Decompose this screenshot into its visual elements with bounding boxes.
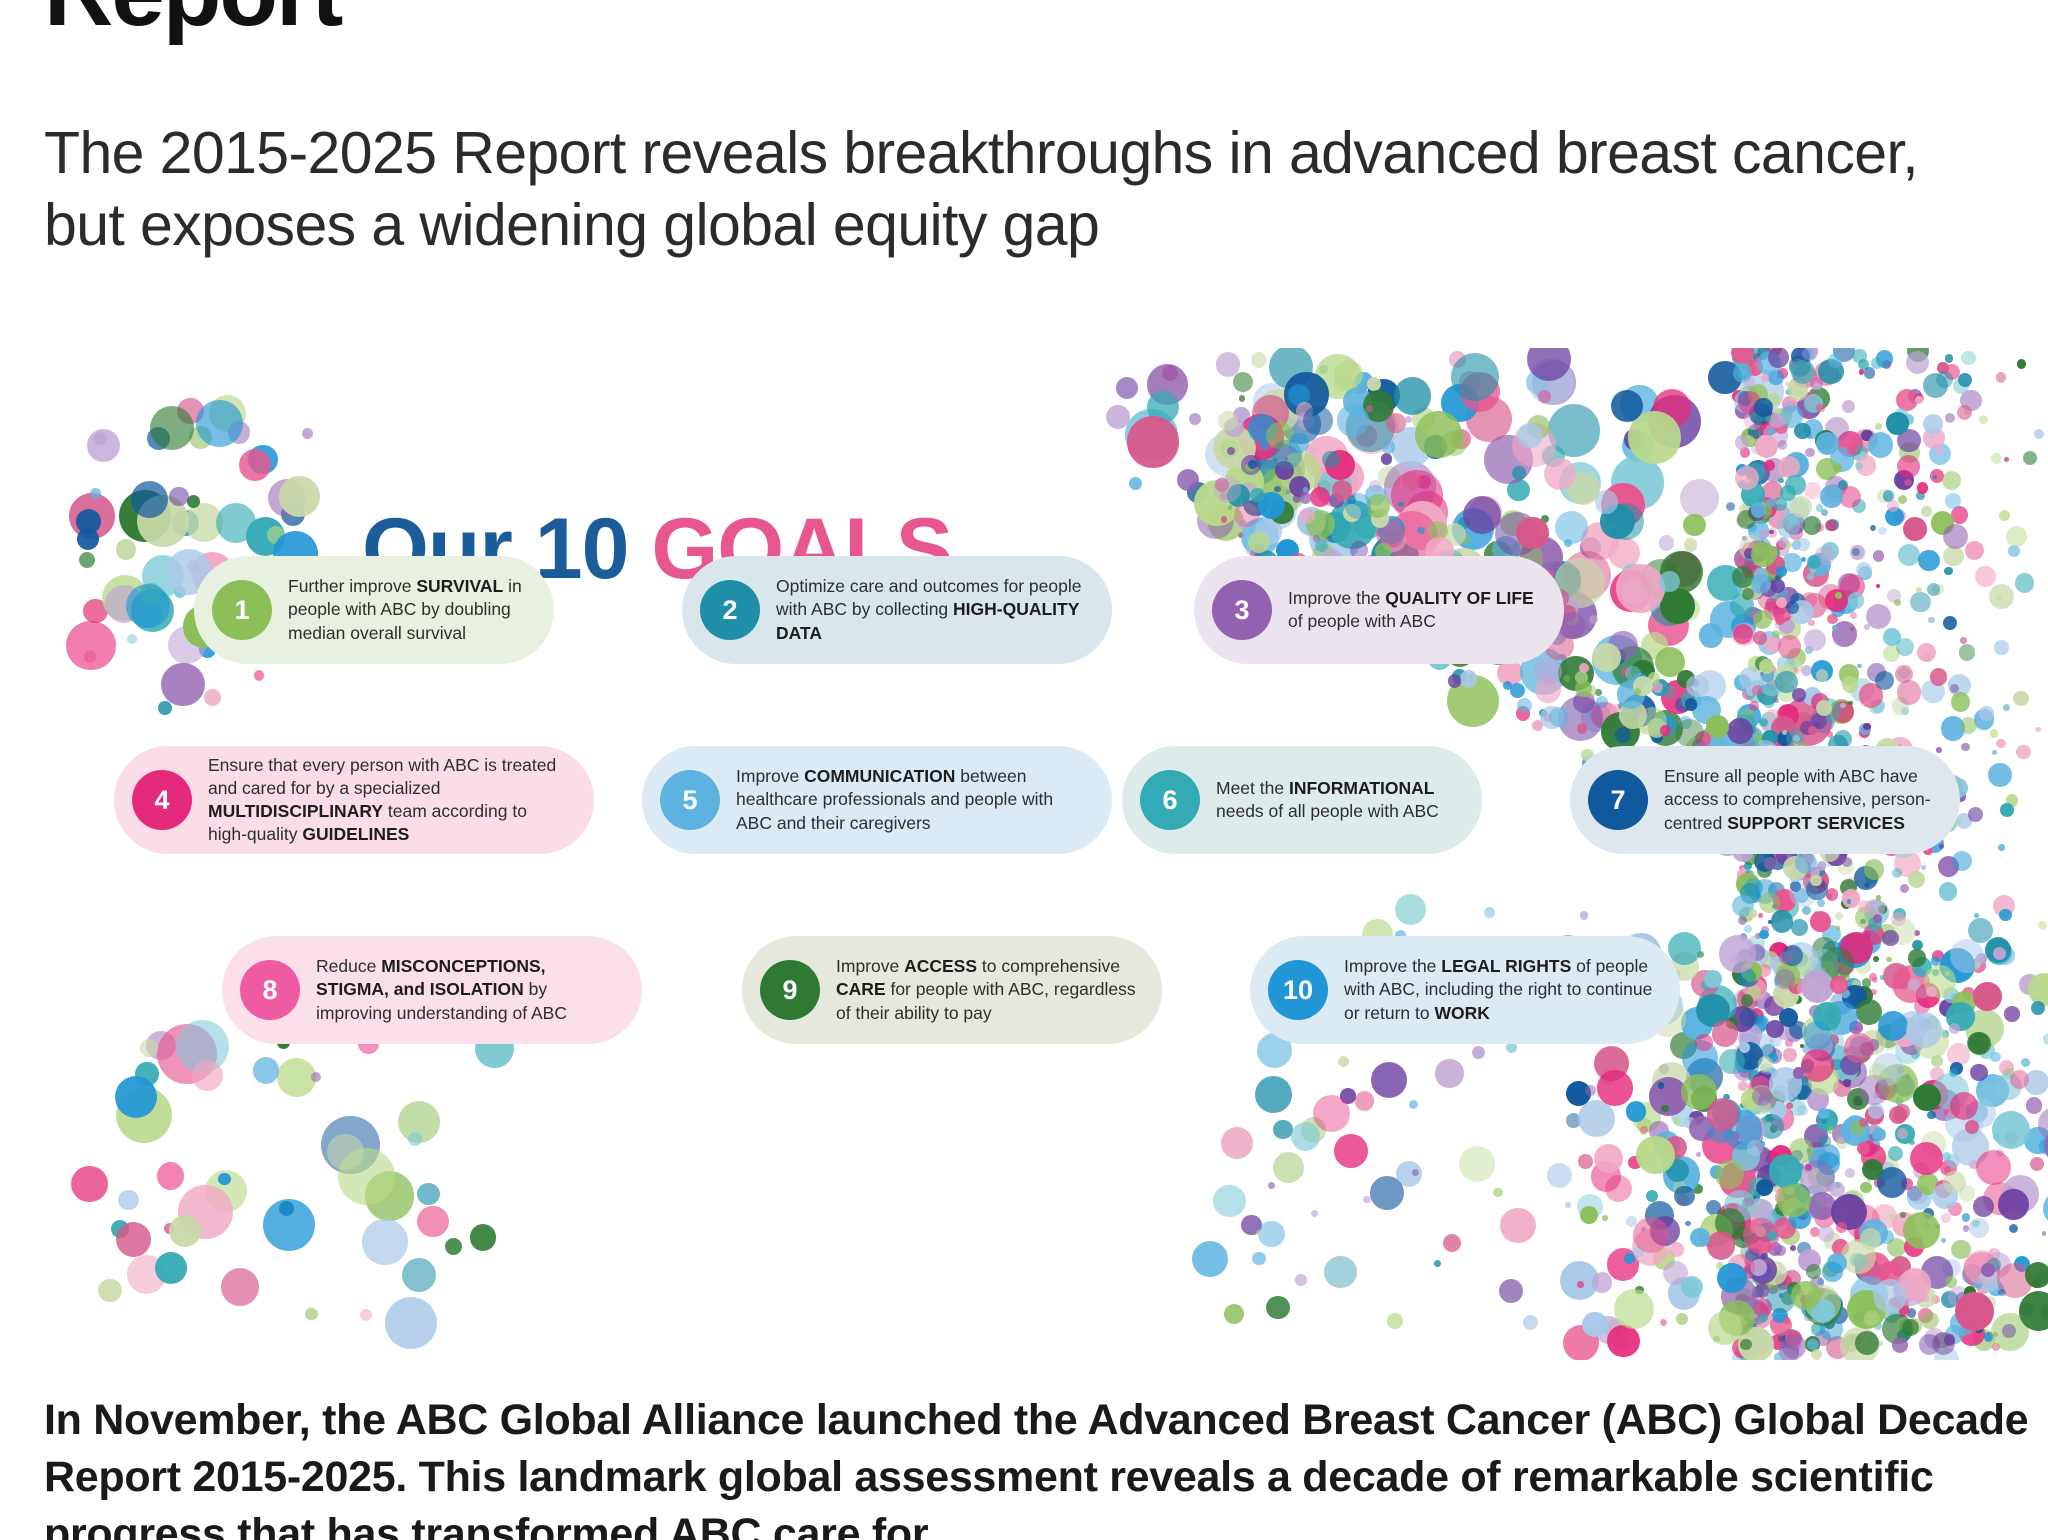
decorative-dot xyxy=(1555,511,1588,544)
decorative-dot xyxy=(1760,1167,1782,1189)
decorative-dot xyxy=(1739,1221,1762,1244)
decorative-dot xyxy=(1951,506,1968,523)
decorative-dot xyxy=(1931,1055,1943,1067)
decorative-dot xyxy=(1829,699,1854,724)
decorative-dot xyxy=(1747,963,1756,972)
decorative-dot xyxy=(1918,1080,1948,1110)
decorative-dot xyxy=(1847,1088,1869,1110)
decorative-dot xyxy=(1808,1065,1838,1095)
decorative-dot xyxy=(1253,383,1291,421)
decorative-dot xyxy=(1733,714,1756,737)
decorative-dot xyxy=(1227,484,1250,507)
decorative-dot xyxy=(1791,360,1815,384)
decorative-dot xyxy=(1872,977,1878,983)
decorative-dot xyxy=(1921,1131,1946,1156)
decorative-dot xyxy=(1255,544,1265,554)
decorative-dot xyxy=(1363,1196,1370,1203)
decorative-dot xyxy=(1808,1033,1833,1058)
decorative-dot xyxy=(1736,515,1748,527)
decorative-dot xyxy=(1748,384,1769,405)
decorative-dot xyxy=(1759,892,1780,913)
decorative-dot xyxy=(1803,516,1822,535)
decorative-dot xyxy=(1869,700,1883,714)
decorative-dot xyxy=(1742,588,1754,600)
decorative-dot xyxy=(1694,670,1726,702)
decorative-dot xyxy=(1791,919,1808,936)
decorative-dot xyxy=(1932,584,1943,595)
goal-badge-1: 1 xyxy=(212,580,272,640)
decorative-dot xyxy=(1802,348,1814,360)
decorative-dot xyxy=(1824,1318,1835,1329)
decorative-dot xyxy=(1977,1082,2001,1106)
decorative-dot xyxy=(1732,348,1757,369)
decorative-dot xyxy=(1836,1137,1848,1149)
decorative-dot xyxy=(105,585,143,623)
decorative-dot xyxy=(1827,1013,1835,1021)
decorative-dot xyxy=(2015,573,2034,592)
decorative-dot xyxy=(1592,1272,1613,1293)
decorative-dot xyxy=(1605,1175,1632,1202)
decorative-dot xyxy=(1597,1070,1632,1105)
decorative-dot xyxy=(1748,935,1765,952)
decorative-dot xyxy=(126,584,170,628)
decorative-dot xyxy=(1942,471,1961,490)
decorative-dot xyxy=(1858,359,1869,370)
decorative-dot xyxy=(1945,1104,1983,1142)
decorative-dot xyxy=(1810,1227,1820,1237)
decorative-dot xyxy=(1909,1185,1927,1203)
decorative-dot xyxy=(1592,635,1642,685)
decorative-dot xyxy=(1883,963,1910,990)
decorative-dot xyxy=(1905,1073,1910,1078)
decorative-dot xyxy=(1739,1042,1750,1053)
decorative-dot xyxy=(1907,1186,1922,1201)
decorative-dot xyxy=(1837,933,1872,968)
decorative-dot xyxy=(1946,1203,1951,1208)
decorative-dot xyxy=(1894,1075,1916,1097)
decorative-dot xyxy=(1759,1114,1784,1139)
decorative-dot xyxy=(1336,452,1345,461)
decorative-dot xyxy=(1934,1333,1950,1349)
decorative-dot xyxy=(1855,906,1878,929)
decorative-dot xyxy=(1573,568,1580,575)
decorative-dot xyxy=(1969,1160,1978,1169)
decorative-dot xyxy=(1736,464,1748,476)
decorative-dot xyxy=(1699,1226,1718,1245)
decorative-dot xyxy=(1976,1074,2009,1107)
decorative-dot xyxy=(1864,624,1869,629)
decorative-dot xyxy=(1817,899,1826,908)
decorative-dot xyxy=(1733,723,1753,743)
decorative-dot xyxy=(1867,1336,1877,1346)
decorative-dot xyxy=(1349,510,1357,518)
decorative-dot xyxy=(1754,735,1762,743)
decorative-dot xyxy=(228,421,250,443)
decorative-dot xyxy=(1808,1164,1832,1188)
decorative-dot xyxy=(1735,724,1760,749)
decorative-dot xyxy=(1804,1288,1842,1326)
decorative-dot xyxy=(1815,523,1824,532)
decorative-dot xyxy=(1733,989,1758,1014)
decorative-dot xyxy=(1944,567,1953,576)
decorative-dot xyxy=(1776,597,1787,608)
decorative-dot xyxy=(1907,348,1929,362)
decorative-dot xyxy=(1832,1239,1849,1256)
decorative-dot xyxy=(1295,1274,1306,1285)
decorative-dot xyxy=(1744,377,1756,389)
decorative-dot xyxy=(1653,1248,1675,1270)
decorative-dot xyxy=(1839,486,1861,508)
decorative-dot xyxy=(1766,1020,1784,1038)
decorative-dot xyxy=(1809,949,1839,979)
decorative-dot xyxy=(1747,1107,1753,1113)
decorative-dot xyxy=(1346,403,1395,452)
decorative-dot xyxy=(1699,623,1723,647)
decorative-dot xyxy=(1542,445,1564,467)
decorative-dot xyxy=(1776,1145,1784,1153)
decorative-dot xyxy=(1739,1234,1748,1243)
decorative-dot xyxy=(1816,504,1824,512)
decorative-dot xyxy=(2023,451,2037,465)
decorative-dot xyxy=(1885,507,1904,526)
decorative-dot xyxy=(1761,374,1769,382)
goal-badge-2: 2 xyxy=(700,580,760,640)
decorative-dot xyxy=(1932,950,1944,962)
decorative-dot xyxy=(1739,1024,1761,1046)
decorative-dot xyxy=(1684,538,1697,551)
decorative-dot xyxy=(1737,1220,1752,1235)
decorative-dot xyxy=(1737,704,1761,728)
decorative-dot xyxy=(1459,371,1481,393)
decorative-dot xyxy=(1665,551,1702,588)
decorative-dot xyxy=(1963,1225,1970,1232)
decorative-dot xyxy=(1899,981,1908,990)
decorative-dot xyxy=(1783,856,1807,880)
decorative-dot xyxy=(1842,985,1867,1010)
decorative-dot xyxy=(417,1183,439,1205)
decorative-dot xyxy=(1988,1281,2003,1296)
decorative-dot xyxy=(1827,1126,1834,1133)
decorative-dot xyxy=(1758,631,1782,655)
decorative-dot xyxy=(1785,1039,1793,1047)
decorative-dot xyxy=(1745,1268,1751,1274)
decorative-dot xyxy=(1727,1277,1737,1287)
decorative-dot xyxy=(1663,1261,1688,1286)
decorative-dot xyxy=(2026,1097,2043,1114)
decorative-dot xyxy=(1317,519,1337,539)
decorative-dot xyxy=(1770,579,1784,593)
decorative-dot xyxy=(2043,1033,2048,1045)
decorative-dot xyxy=(1983,1182,2016,1215)
decorative-dot xyxy=(1775,895,1799,919)
decorative-dot xyxy=(1632,1229,1669,1266)
decorative-dot xyxy=(1766,499,1774,507)
decorative-dot xyxy=(1732,623,1755,646)
decorative-dot xyxy=(1794,888,1810,904)
decorative-dot xyxy=(1939,882,1957,900)
decorative-dot xyxy=(1888,918,1915,945)
decorative-dot xyxy=(1810,911,1831,932)
decorative-dot xyxy=(1874,1177,1885,1188)
decorative-dot xyxy=(1334,360,1363,389)
decorative-dot xyxy=(119,490,171,542)
decorative-dot xyxy=(1773,982,1799,1008)
decorative-dot xyxy=(1812,937,1836,961)
decorative-dot xyxy=(1395,894,1426,925)
decorative-dot xyxy=(1843,1334,1861,1352)
decorative-dot xyxy=(1695,731,1712,748)
decorative-dot xyxy=(1727,1315,1737,1325)
decorative-dot xyxy=(1472,1046,1485,1059)
decorative-dot xyxy=(1822,1262,1842,1282)
decorative-dot xyxy=(1821,947,1854,980)
decorative-dot xyxy=(1931,511,1954,534)
decorative-dot xyxy=(1746,408,1753,415)
decorative-dot xyxy=(1800,721,1815,736)
decorative-dot xyxy=(1782,513,1797,528)
decorative-dot xyxy=(1626,1216,1637,1227)
decorative-dot xyxy=(1512,466,1526,480)
decorative-dot xyxy=(1686,675,1708,697)
decorative-dot xyxy=(1769,1067,1802,1100)
decorative-dot xyxy=(1549,707,1569,727)
goal-text-9: Improve ACCESS to comprehensive CARE for… xyxy=(836,955,1136,1024)
decorative-dot xyxy=(1736,1303,1748,1315)
decorative-dot xyxy=(1224,418,1244,438)
decorative-dot xyxy=(1810,708,1835,733)
decorative-dot xyxy=(1803,392,1818,407)
decorative-dot xyxy=(1622,694,1656,728)
decorative-dot xyxy=(1786,389,1792,395)
decorative-dot xyxy=(1544,458,1576,490)
decorative-dot xyxy=(1777,587,1798,608)
decorative-dot xyxy=(1769,956,1784,971)
decorative-dot xyxy=(1996,946,2015,965)
decorative-dot xyxy=(1252,395,1289,432)
decorative-dot xyxy=(1746,686,1755,695)
decorative-dot xyxy=(1864,367,1876,379)
decorative-dot xyxy=(1539,709,1547,717)
decorative-dot xyxy=(1766,1284,1795,1313)
decorative-dot xyxy=(140,583,162,605)
decorative-dot xyxy=(1801,1049,1834,1082)
decorative-dot xyxy=(1707,565,1743,601)
decorative-dot xyxy=(1932,1183,1958,1209)
decorative-dot xyxy=(1580,1206,1598,1224)
decorative-dot xyxy=(1764,1270,1786,1292)
decorative-dot xyxy=(1381,527,1406,552)
decorative-dot xyxy=(1898,667,1910,679)
decorative-dot xyxy=(1215,478,1229,492)
decorative-dot xyxy=(1818,952,1844,978)
decorative-dot xyxy=(1804,394,1823,413)
decorative-dot xyxy=(1949,1023,1960,1034)
decorative-dot xyxy=(1192,1241,1228,1277)
decorative-dot xyxy=(1719,1161,1757,1199)
decorative-dot xyxy=(1304,436,1349,481)
decorative-dot xyxy=(1463,496,1502,535)
decorative-dot xyxy=(1965,541,1984,560)
decorative-dot xyxy=(1936,371,1953,388)
decorative-dot xyxy=(1932,969,1939,976)
decorative-dot xyxy=(1801,1059,1814,1072)
decorative-dot xyxy=(1777,950,1811,984)
decorative-dot xyxy=(1653,389,1691,427)
decorative-dot xyxy=(1311,1210,1318,1217)
decorative-dot xyxy=(1417,527,1425,535)
decorative-dot xyxy=(1823,853,1837,867)
decorative-dot xyxy=(1860,1030,1886,1056)
decorative-dot xyxy=(1543,713,1552,722)
decorative-dot xyxy=(1804,482,1821,499)
decorative-dot xyxy=(1356,425,1378,447)
decorative-dot xyxy=(1912,940,1922,950)
decorative-dot xyxy=(1775,575,1780,580)
decorative-dot xyxy=(1829,1022,1838,1031)
decorative-dot xyxy=(1793,365,1817,389)
goal-badge-6: 6 xyxy=(1140,770,1200,830)
decorative-dot xyxy=(1778,537,1789,548)
decorative-dot xyxy=(1940,948,1975,983)
decorative-dot xyxy=(1754,1337,1759,1342)
decorative-dot xyxy=(1894,1298,1908,1312)
decorative-dot xyxy=(1708,1311,1742,1345)
decorative-dot xyxy=(1749,1313,1755,1319)
decorative-dot xyxy=(1735,435,1750,450)
decorative-dot xyxy=(1248,460,1257,469)
decorative-dot xyxy=(1500,510,1526,536)
decorative-dot xyxy=(1740,1033,1760,1053)
decorative-dot xyxy=(1820,1317,1843,1340)
decorative-dot xyxy=(1649,1121,1669,1141)
decorative-dot xyxy=(1742,579,1763,600)
decorative-dot xyxy=(1566,1081,1591,1106)
decorative-dot xyxy=(385,1297,437,1349)
decorative-dot xyxy=(1802,1199,1820,1217)
decorative-dot xyxy=(1797,348,1817,361)
decorative-dot xyxy=(1735,466,1759,490)
decorative-dot xyxy=(1804,629,1826,651)
decorative-dot xyxy=(1995,1073,2022,1100)
decorative-dot xyxy=(1732,895,1754,917)
decorative-dot xyxy=(1792,688,1806,702)
decorative-dot xyxy=(1659,535,1675,551)
decorative-dot xyxy=(1916,491,1925,500)
decorative-dot xyxy=(1889,1106,1907,1124)
decorative-dot xyxy=(1764,564,1783,583)
decorative-dot xyxy=(1675,597,1700,622)
decorative-dot xyxy=(1831,1194,1867,1230)
decorative-dot xyxy=(1854,1224,1872,1242)
decorative-dot xyxy=(1981,1263,1995,1277)
decorative-dot xyxy=(1939,999,1957,1017)
decorative-dot xyxy=(1807,555,1821,569)
decorative-dot xyxy=(1220,492,1229,501)
decorative-dot xyxy=(1740,883,1761,904)
decorative-dot xyxy=(1866,604,1891,629)
decorative-dot xyxy=(1255,1076,1292,1113)
decorative-dot xyxy=(1299,508,1315,524)
decorative-dot xyxy=(1589,615,1599,625)
decorative-dot xyxy=(1803,419,1823,439)
decorative-dot xyxy=(1961,743,1970,752)
decorative-dot xyxy=(1744,554,1759,569)
decorative-dot xyxy=(1914,393,1924,403)
decorative-dot xyxy=(1803,1185,1828,1210)
decorative-dot xyxy=(1708,361,1741,394)
decorative-dot xyxy=(1784,452,1809,477)
decorative-dot xyxy=(1921,1295,1928,1302)
decorative-dot xyxy=(1741,428,1760,447)
decorative-dot xyxy=(1747,478,1753,484)
decorative-dot xyxy=(1189,413,1201,425)
decorative-dot xyxy=(1875,1078,1897,1100)
decorative-dot xyxy=(1681,1074,1717,1110)
decorative-dot xyxy=(1932,1332,1955,1355)
decorative-dot xyxy=(1650,587,1689,626)
decorative-dot xyxy=(1797,400,1815,418)
decorative-dot xyxy=(1931,956,1940,965)
decorative-dot xyxy=(1319,468,1352,501)
decorative-dot xyxy=(1266,422,1294,450)
decorative-dot xyxy=(1761,926,1769,934)
decorative-dot xyxy=(1673,1181,1687,1195)
decorative-dot xyxy=(1868,1039,1879,1050)
decorative-dot xyxy=(2021,1058,2030,1067)
decorative-dot xyxy=(1943,987,1959,1003)
decorative-dot xyxy=(1234,503,1259,528)
decorative-dot xyxy=(1981,1267,1994,1280)
decorative-dot xyxy=(1892,1337,1908,1353)
decorative-dot xyxy=(1245,468,1287,510)
decorative-dot xyxy=(1859,1140,1876,1157)
decorative-dot xyxy=(1818,1292,1823,1297)
decorative-dot xyxy=(1893,1109,1907,1123)
decorative-dot xyxy=(1394,377,1431,414)
decorative-dot xyxy=(1398,501,1447,550)
decorative-dot xyxy=(1782,1334,1806,1358)
decorative-dot xyxy=(1588,712,1592,716)
decorative-dot xyxy=(1194,480,1240,526)
decorative-dot xyxy=(1743,435,1755,447)
decorative-dot xyxy=(1858,930,1881,953)
decorative-dot xyxy=(1732,1348,1754,1360)
decorative-dot xyxy=(1771,716,1795,740)
decorative-dot xyxy=(98,1279,121,1302)
decorative-dot xyxy=(1909,1140,1915,1146)
decorative-dot xyxy=(1807,1339,1818,1350)
decorative-dot xyxy=(1973,982,2001,1010)
decorative-dot xyxy=(1780,485,1797,502)
decorative-dot xyxy=(1218,411,1238,431)
decorative-dot xyxy=(1768,348,1789,368)
decorative-dot xyxy=(1752,1337,1769,1354)
decorative-dot xyxy=(1781,407,1793,419)
decorative-dot xyxy=(1836,957,1841,962)
decorative-dot xyxy=(1738,1031,1754,1047)
decorative-dot xyxy=(1732,1338,1752,1358)
decorative-dot xyxy=(1256,488,1298,530)
decorative-dot xyxy=(1947,1043,1970,1066)
decorative-dot xyxy=(1412,407,1436,431)
decorative-dot xyxy=(1991,453,2002,464)
decorative-dot xyxy=(1628,1156,1641,1169)
decorative-dot xyxy=(1958,373,1972,387)
decorative-dot xyxy=(1820,485,1842,507)
decorative-dot xyxy=(1764,996,1784,1016)
decorative-dot xyxy=(1696,1152,1701,1157)
decorative-dot xyxy=(1719,935,1756,972)
